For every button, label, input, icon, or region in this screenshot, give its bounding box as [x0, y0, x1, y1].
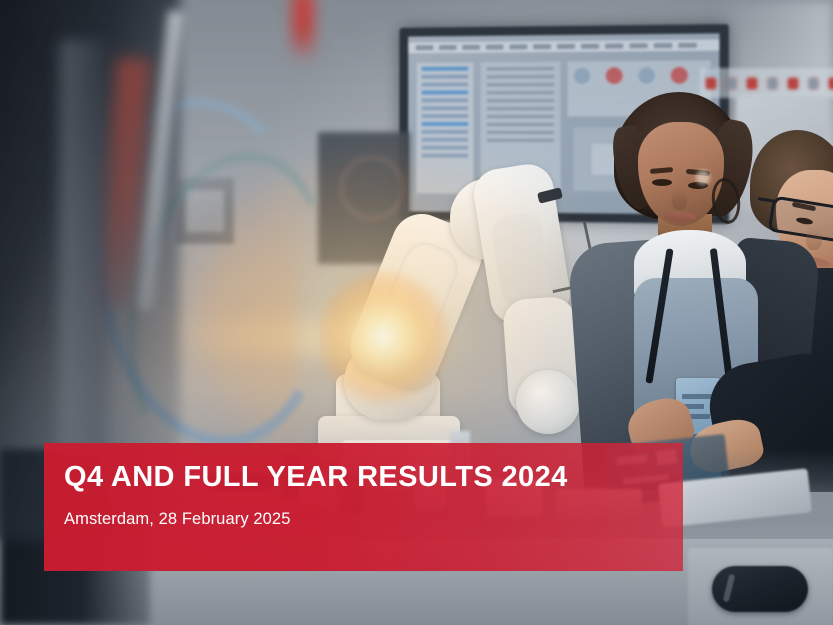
title-slide: Q4 AND FULL YEAR RESULTS 2024 Amsterdam,…: [0, 0, 833, 625]
title-banner: Q4 AND FULL YEAR RESULTS 2024 Amsterdam,…: [44, 443, 683, 571]
engineers-group: [600, 92, 833, 492]
cad-toolbar: [408, 39, 719, 53]
female-engineer-eye-left: [652, 179, 672, 186]
female-engineer-nose: [672, 188, 687, 210]
foreground-metal-bar: [60, 40, 106, 460]
female-engineer-cheek-highlight: [696, 170, 710, 185]
cad-tool-icons: [573, 66, 720, 85]
banner-subtitle: Amsterdam, 28 February 2025: [64, 510, 683, 529]
male-engineer-nose: [806, 228, 822, 250]
wall-red-stripe: [292, 0, 314, 62]
dark-component-object: [712, 566, 808, 612]
lens-flare-core: [318, 272, 448, 402]
page-title: Q4 AND FULL YEAR RESULTS 2024: [64, 462, 683, 493]
